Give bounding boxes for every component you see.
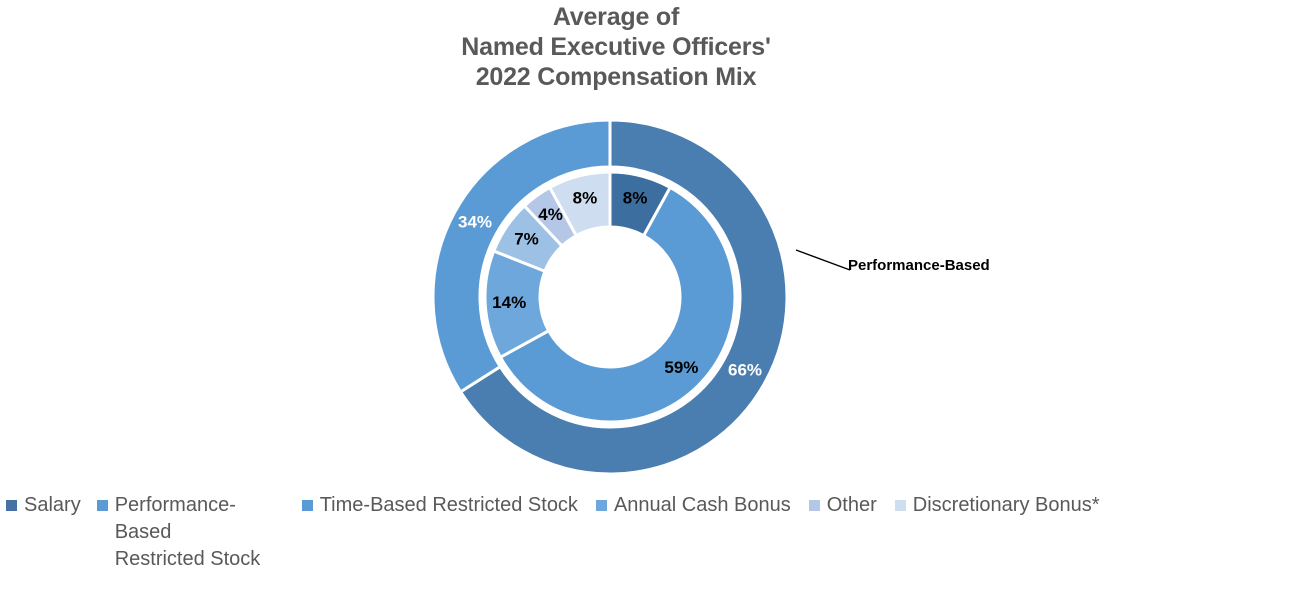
legend-item-discretionary-bonus[interactable]: Discretionary Bonus* — [895, 492, 1100, 519]
legend-item-label: Other — [827, 492, 877, 519]
legend-swatch-icon — [97, 500, 108, 511]
legend-swatch-icon — [809, 500, 820, 511]
slice-label-outer-1: 34% — [458, 212, 492, 231]
donut-chart-area: 66%34% 8%59%14%7%4%8% — [430, 115, 830, 495]
legend-item-performance-based-restricted-stock[interactable]: Performance- Based Restricted Stock — [97, 492, 282, 573]
slice-label-inner-1: 59% — [664, 358, 698, 377]
legend-item-salary[interactable]: Salary — [6, 492, 81, 519]
legend-item-label: Discretionary Bonus* — [913, 492, 1100, 519]
legend-swatch-icon — [302, 500, 313, 511]
legend-item-annual-cash-bonus[interactable]: Annual Cash Bonus — [596, 492, 791, 519]
legend-item-label: Performance- Based Restricted Stock — [115, 492, 261, 573]
slice-label-inner-3: 7% — [514, 230, 539, 249]
chart-title-line-2: Named Executive Officers' — [0, 32, 1232, 62]
slice-label-inner-0: 8% — [623, 189, 648, 208]
compensation-mix-chart: Average of Named Executive Officers' 202… — [0, 0, 1314, 593]
chart-title-line-1: Average of — [0, 2, 1232, 32]
slice-label-inner-2: 14% — [492, 293, 526, 312]
legend-swatch-icon — [6, 500, 17, 511]
chart-legend: SalaryPerformance- Based Restricted Stoc… — [6, 492, 1314, 573]
legend-item-label: Annual Cash Bonus — [614, 492, 791, 519]
legend-swatch-icon — [596, 500, 607, 511]
legend-item-other[interactable]: Other — [809, 492, 877, 519]
donut-svg: 66%34% 8%59%14%7%4%8% — [430, 115, 830, 495]
chart-title-line-3: 2022 Compensation Mix — [0, 62, 1232, 92]
slice-label-outer-0: 66% — [728, 361, 762, 380]
slice-label-inner-5: 8% — [573, 189, 598, 208]
legend-swatch-icon — [895, 500, 906, 511]
legend-item-time-based-restricted-stock[interactable]: Time-Based Restricted Stock — [302, 492, 578, 519]
legend-item-label: Salary — [24, 492, 81, 519]
chart-title: Average of Named Executive Officers' 202… — [0, 2, 1232, 92]
legend-item-label: Time-Based Restricted Stock — [320, 492, 578, 519]
callout-label-performance-based: Performance-Based — [848, 257, 990, 274]
slice-label-inner-4: 4% — [538, 205, 563, 224]
